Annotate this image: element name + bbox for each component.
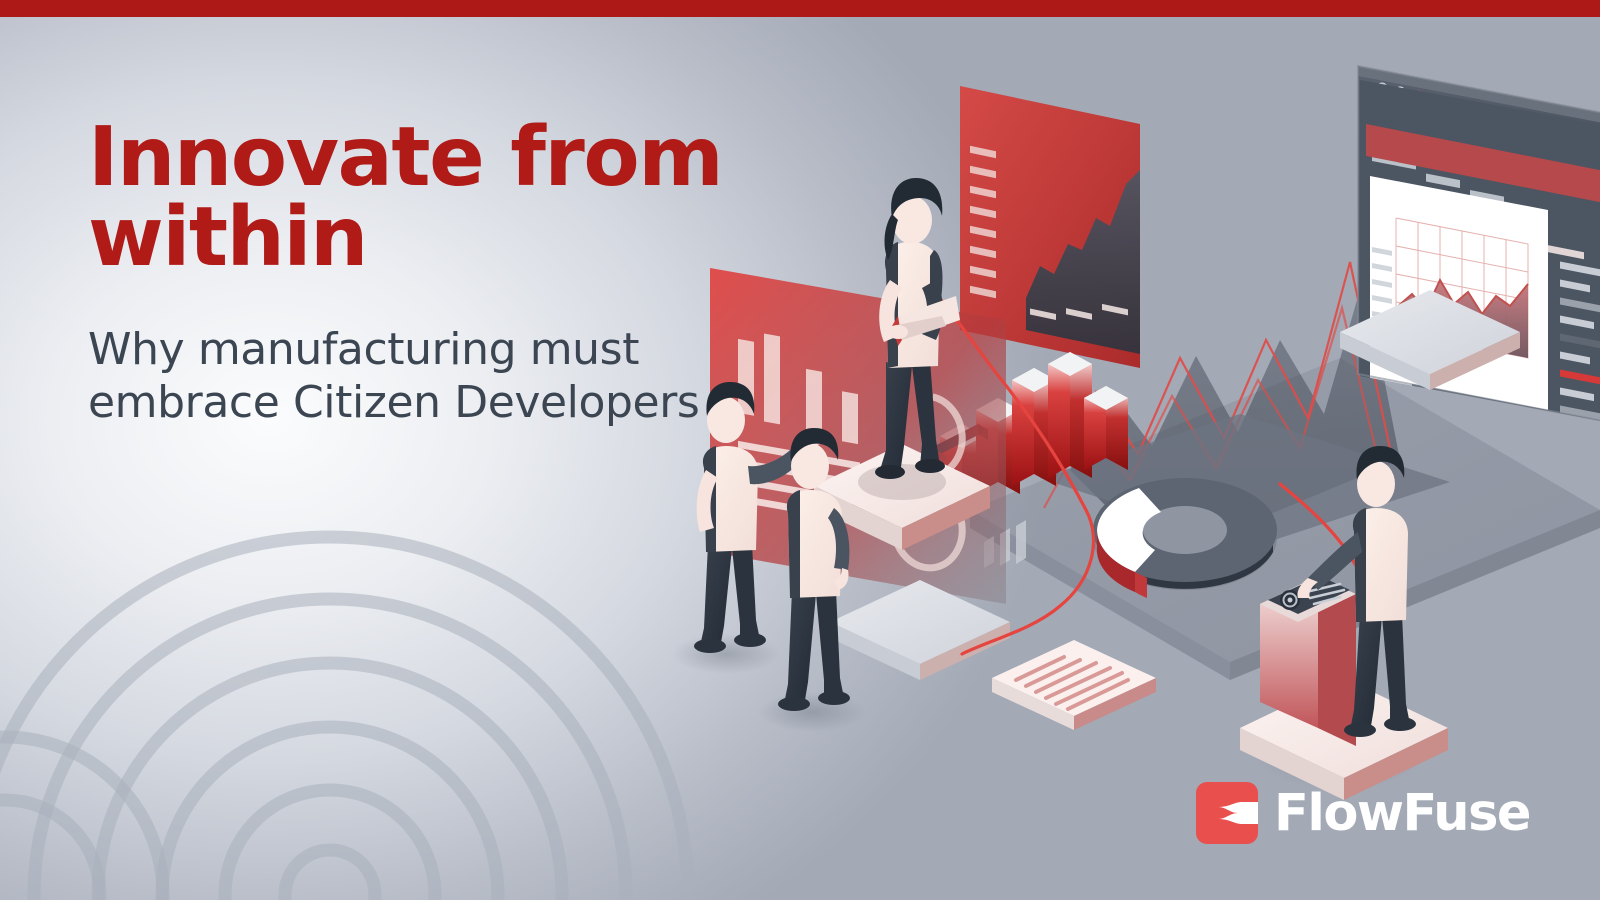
document-tile: [992, 640, 1156, 730]
banner-root: Innovate from within Why manufacturing m…: [0, 0, 1600, 900]
top-accent-bar: [0, 0, 1600, 17]
flowfuse-logo[interactable]: FlowFuse: [1196, 782, 1530, 844]
flowfuse-fork-mark-icon: [1196, 782, 1258, 844]
red-translucent-panel: [710, 268, 1006, 604]
flowfuse-wordmark: FlowFuse: [1274, 788, 1530, 839]
illustration-isometric-scene: [640, 40, 1600, 800]
